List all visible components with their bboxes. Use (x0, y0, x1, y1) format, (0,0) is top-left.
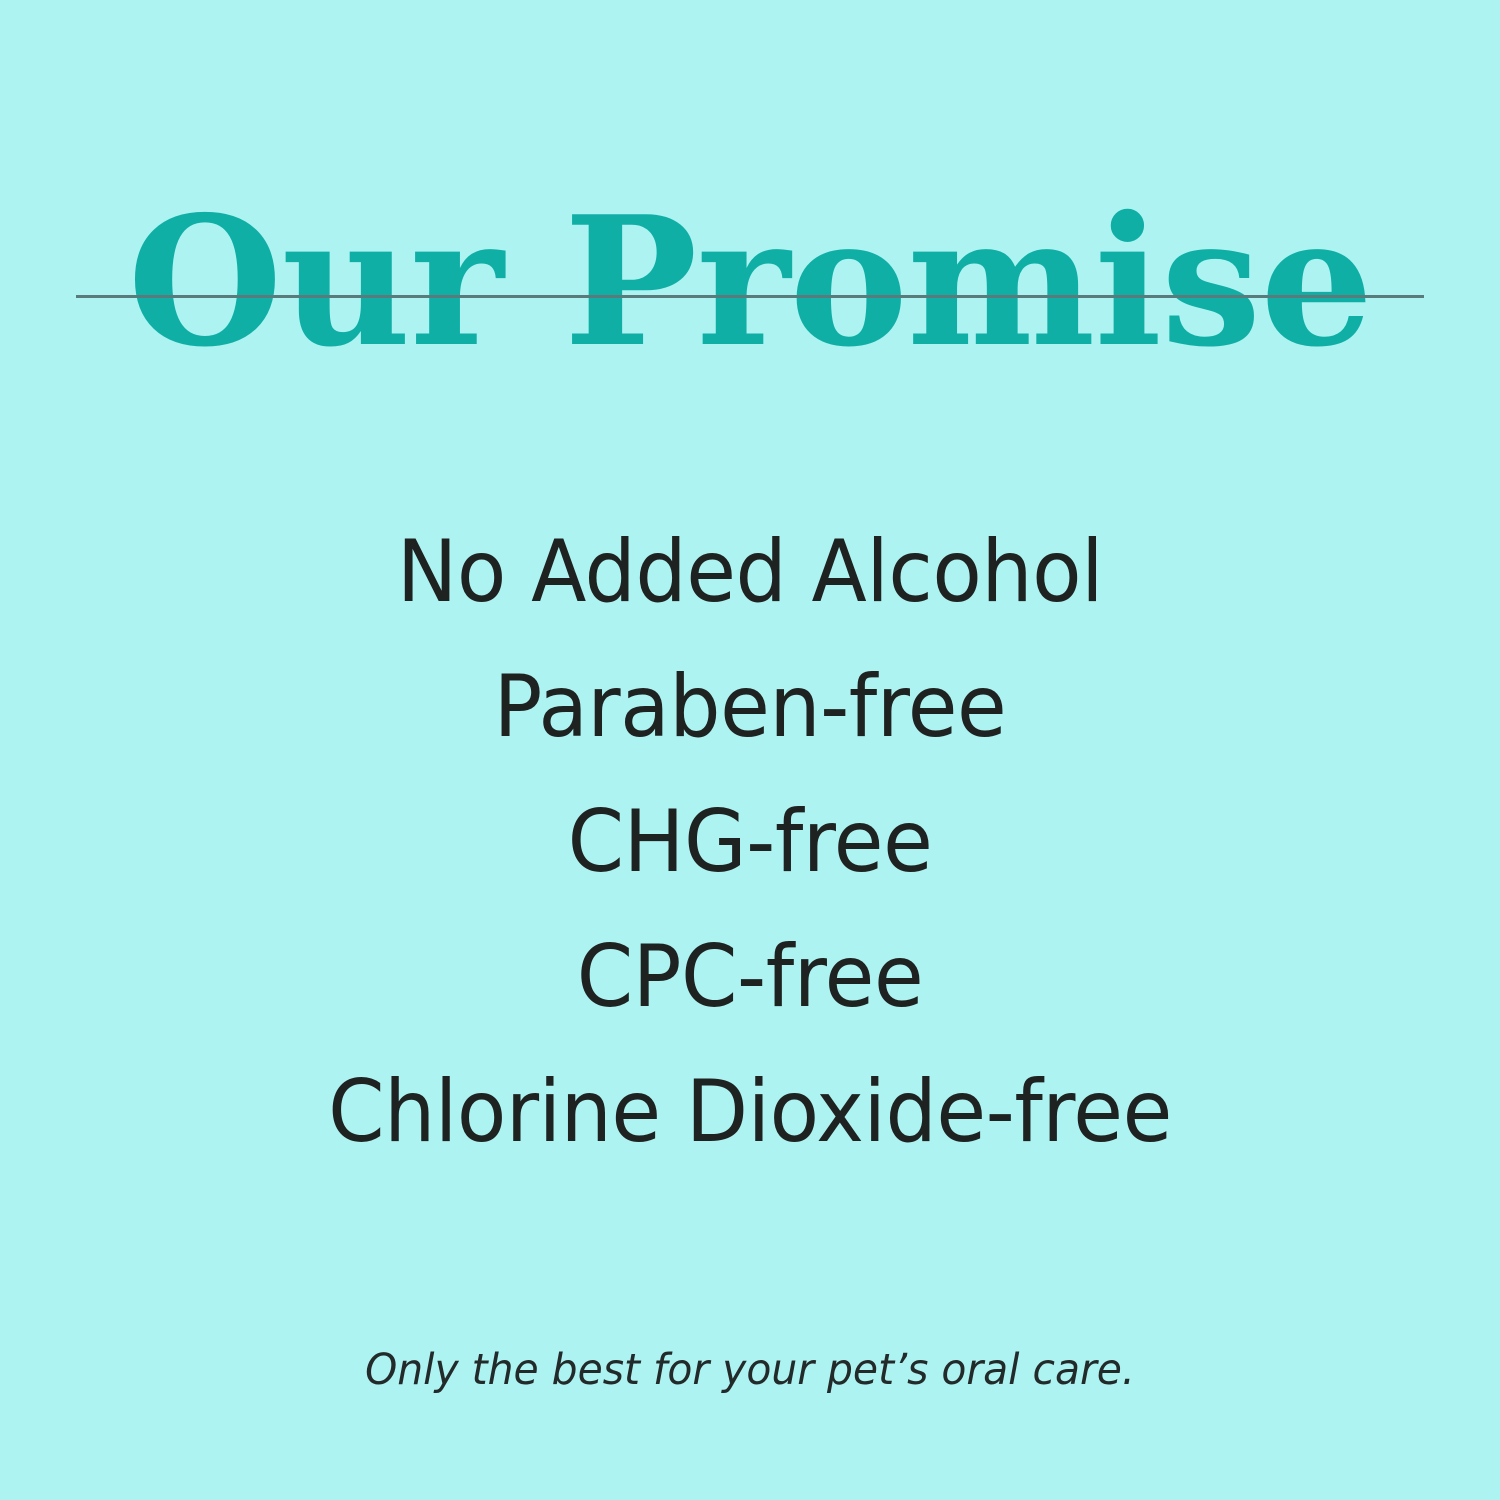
title-divider (76, 295, 1424, 298)
list-item: CPC-free (45, 910, 1455, 1045)
list-item: Chlorine Dioxide-free (45, 1045, 1455, 1180)
tagline: Only the best for your pet’s oral care. (38, 1345, 1463, 1397)
promise-poster: Our Promise No Added Alcohol Paraben-fre… (0, 0, 1500, 1500)
list-item: CHG-free (45, 775, 1455, 910)
list-item: Paraben-free (45, 640, 1455, 775)
claims-list: No Added Alcohol Paraben-free CHG-free C… (0, 505, 1500, 1180)
list-item: No Added Alcohol (45, 505, 1455, 640)
page-title: Our Promise (0, 193, 1500, 371)
